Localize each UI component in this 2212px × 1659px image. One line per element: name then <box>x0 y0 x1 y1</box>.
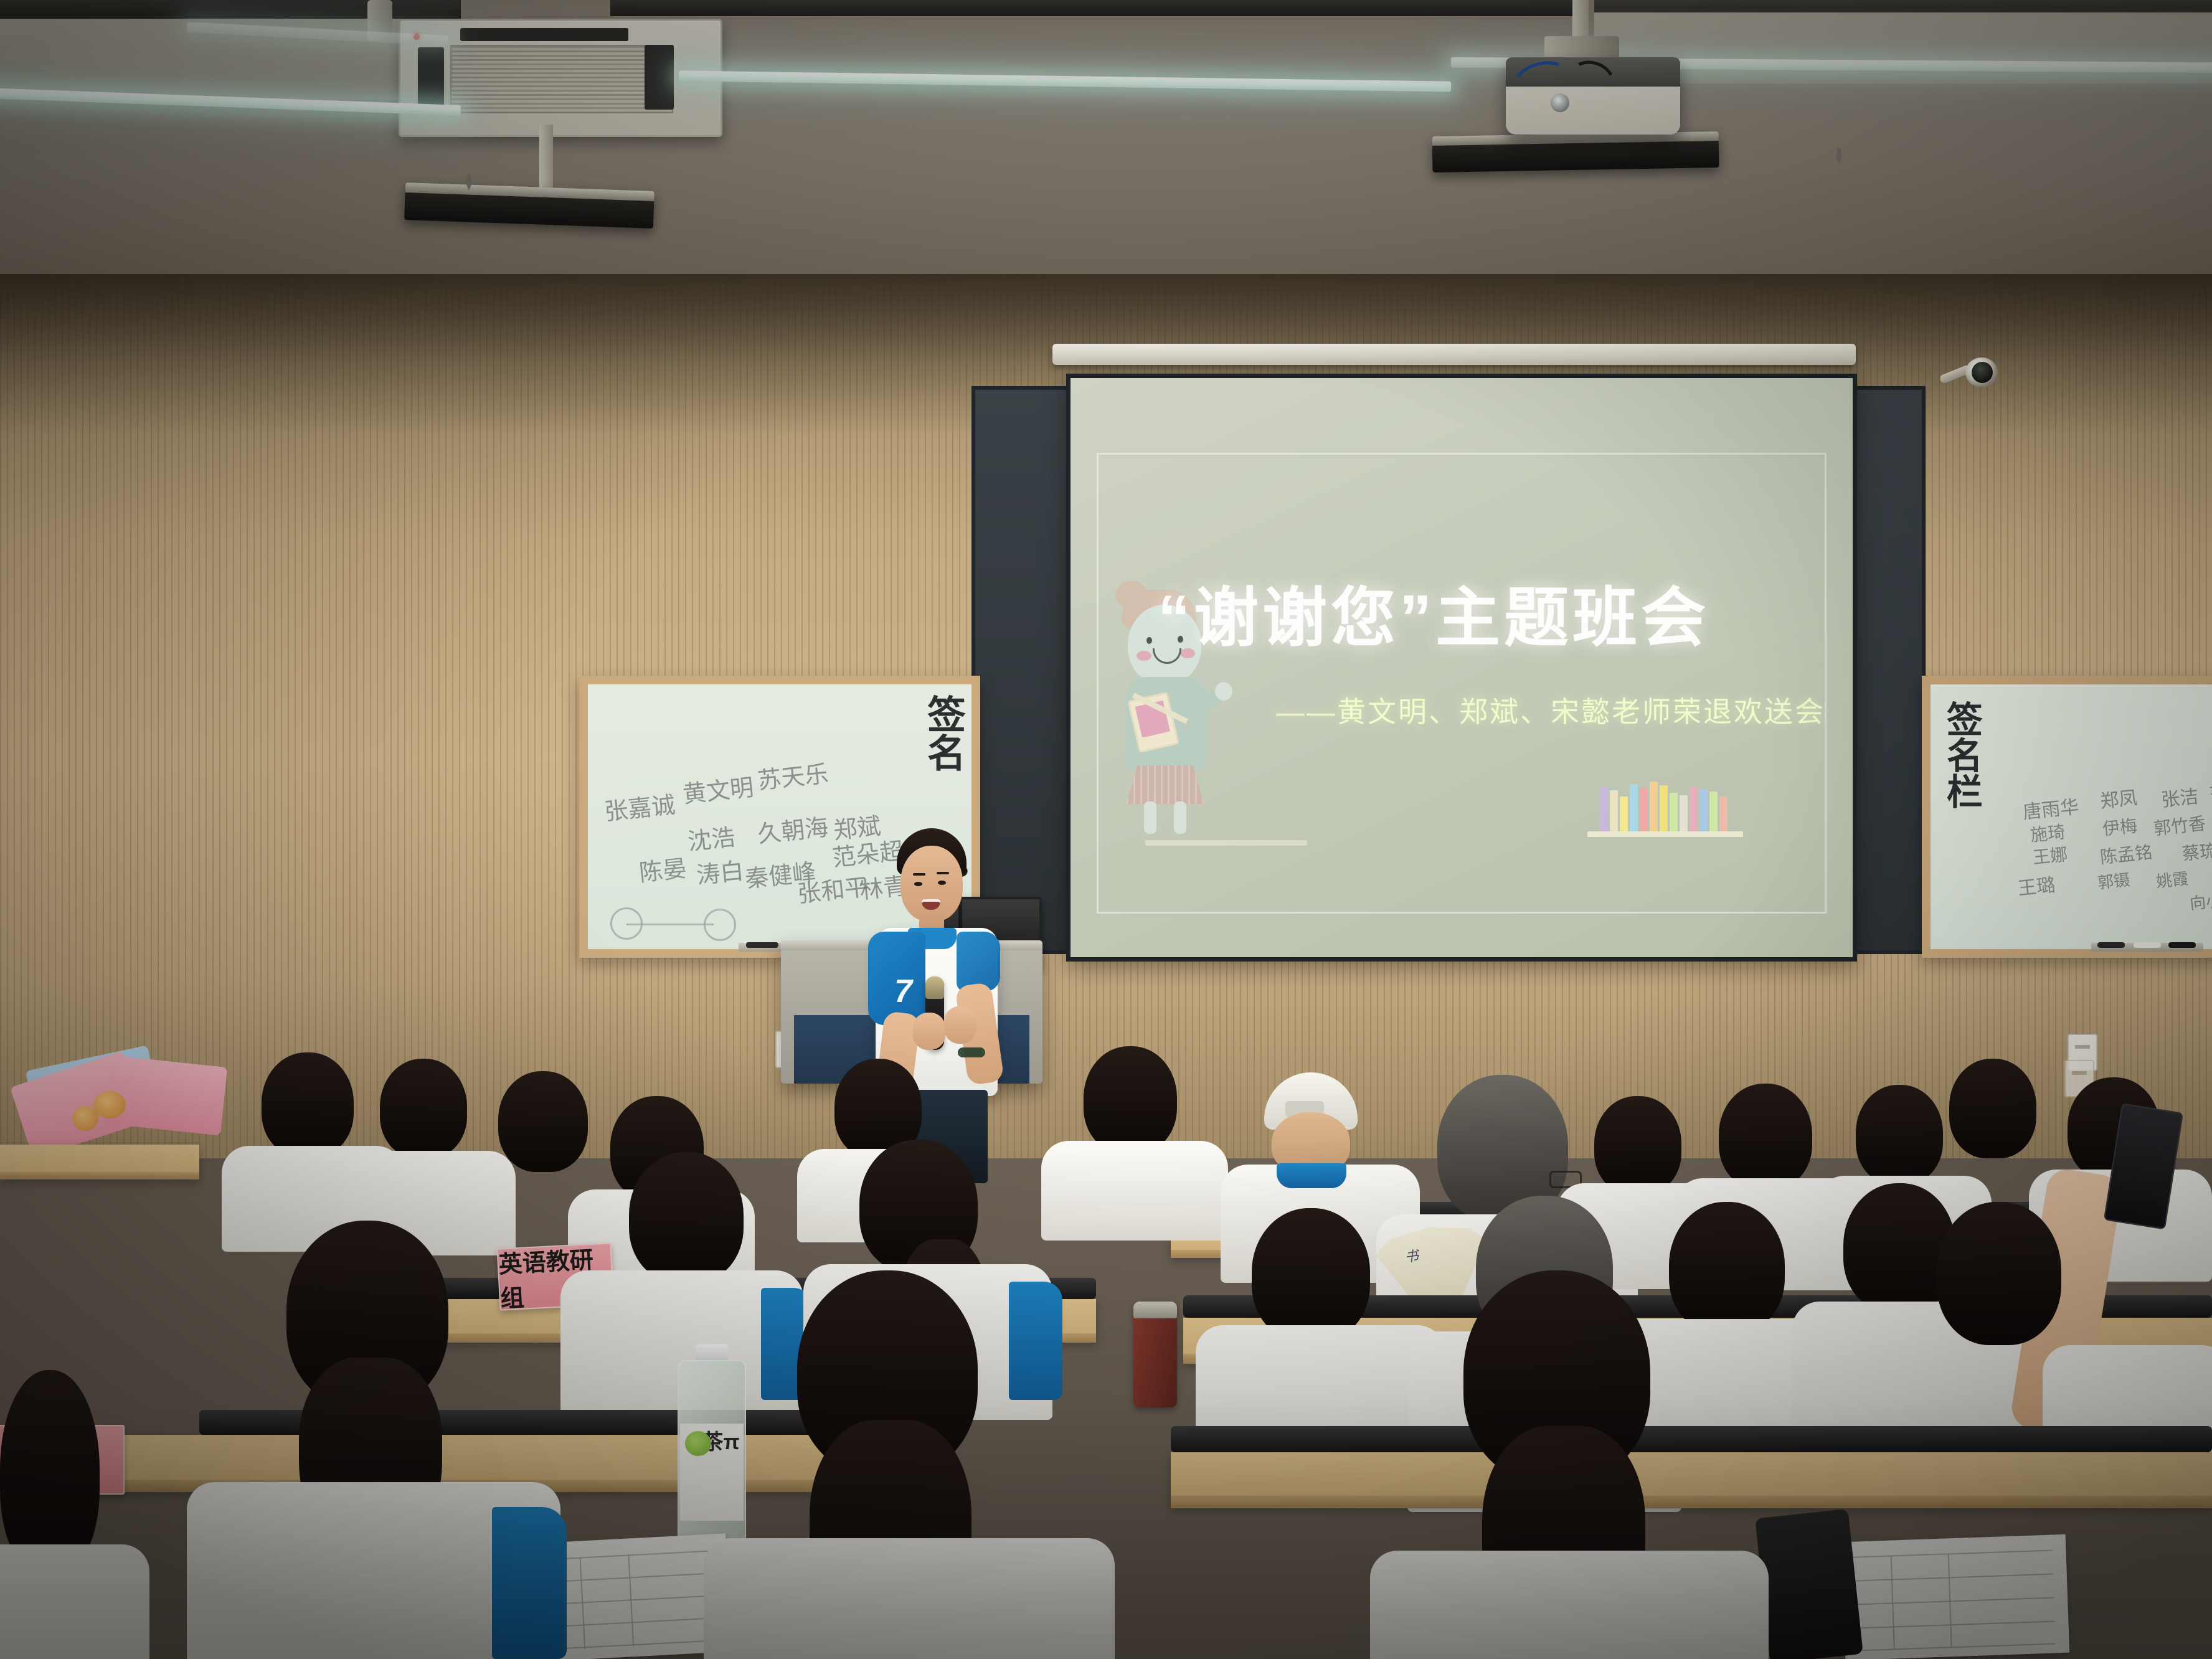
seat-back-right <box>1755 1509 1863 1659</box>
desk-row-left-back <box>0 1145 199 1179</box>
signature: 苏天乐 <box>755 754 829 796</box>
book-spine <box>1719 796 1728 831</box>
ceiling-beam-right <box>1594 0 2212 12</box>
projection-screen: “谢谢您”主题班会 ——黄文明、郑斌、宋懿老师荣退欢送会 <box>1066 374 1857 962</box>
signature: 郭竹香 <box>2152 810 2207 841</box>
signature: 王璐 <box>2016 869 2056 900</box>
signature: 范慧 <box>2208 777 2212 806</box>
signature: 黄文明 <box>681 768 755 810</box>
ac-vent-right <box>645 45 674 110</box>
whiteboard-left-heading: 签名 <box>922 694 963 772</box>
presenter-eye-right <box>938 881 946 885</box>
signature: 蔡琉 <box>2181 837 2212 866</box>
signature: 涛白 <box>694 851 745 891</box>
book-spine <box>1690 787 1698 831</box>
cartoon-eye-left <box>1146 637 1152 644</box>
audience-head <box>1084 1046 1177 1153</box>
presenter-brow-left <box>913 873 925 876</box>
fan-calligraphy: 书 <box>1403 1245 1419 1267</box>
bottle-label: 茶π <box>680 1424 743 1521</box>
slide-subtitle: ——黄文明、郑斌、宋懿老师荣退欢送会 <box>1276 689 1825 730</box>
whiteboard-doodle-line <box>626 924 714 925</box>
cartoon-leg-right <box>1174 801 1186 834</box>
camera-lens <box>1972 362 1993 383</box>
signature: 姚霞 <box>2155 866 2190 892</box>
cartoon-skirt <box>1127 765 1204 804</box>
book-spine <box>1660 785 1668 831</box>
program-sheet-right <box>1841 1534 2069 1659</box>
audience-shoulder-panel <box>1009 1282 1062 1400</box>
book-spine <box>1709 792 1718 831</box>
audience-head <box>1252 1208 1370 1341</box>
whiteboard-right: 签名栏 唐雨华 施琦 王娜 王璐 郑凤 张洁 范慧 伊梅 郭竹香 陈孟铭 蔡琉 … <box>1922 676 2212 958</box>
ceiling-speaker-bar-right <box>1432 131 1719 173</box>
book-spine <box>1699 789 1708 831</box>
microphone-grille <box>925 976 944 999</box>
paper-row-line <box>552 1572 716 1582</box>
signature: 王娜 <box>2031 841 2069 869</box>
book-spine <box>1680 795 1688 831</box>
desk-row-front-right <box>1171 1452 2212 1508</box>
paper-row-line <box>1856 1620 2055 1628</box>
tea-bottle: 茶π <box>678 1360 746 1547</box>
paper-row-line <box>1853 1550 2053 1558</box>
book-spine <box>1650 782 1658 831</box>
presenter-mouth <box>922 899 940 910</box>
camera-dome <box>1965 357 1998 387</box>
book-spine <box>1670 793 1678 831</box>
paper-row-line <box>1856 1643 2056 1651</box>
paper-row-line <box>554 1617 719 1627</box>
presenter-shirt-number: 7 <box>894 973 912 1010</box>
projector <box>1506 57 1680 135</box>
signature: 沈浩 <box>686 818 736 857</box>
audience-head <box>1949 1059 2036 1158</box>
bouquet-flower <box>72 1106 98 1131</box>
program-sheet-left <box>539 1533 732 1659</box>
audience-head <box>1719 1084 1812 1189</box>
thermos-lid <box>1133 1302 1177 1318</box>
audience-shoulders-front <box>0 1544 149 1659</box>
ac-vent-left <box>418 47 444 109</box>
desk-rail-front-left <box>199 1410 859 1435</box>
presenter-sleeve-right <box>957 932 1000 991</box>
signature: 张洁 <box>2160 781 2200 812</box>
paper-row-line <box>1854 1574 2053 1582</box>
audience-head <box>262 1052 354 1157</box>
ac-vent-top <box>460 28 628 41</box>
signature: 伊梅 <box>2101 812 2139 841</box>
projector-lens <box>1551 93 1569 112</box>
signature: 向小兰 <box>2188 886 2212 914</box>
audience-shoulders <box>1041 1141 1228 1241</box>
signature: 陈孟铭 <box>2099 839 2153 869</box>
ac-grille <box>450 45 673 113</box>
signature: 久朝海 <box>755 808 829 849</box>
cartoon-leg-left <box>1144 801 1156 834</box>
ceiling-beam-mid <box>610 0 1582 16</box>
presenter-eye-left <box>914 882 922 886</box>
cartoon-hand <box>1215 682 1232 701</box>
book-spine <box>1620 796 1628 831</box>
audience-head <box>629 1152 744 1283</box>
classroom-photo-scene: “谢谢您”主题班会 ——黄文明、郑斌、宋懿老师荣退欢送会 <box>0 0 2212 1659</box>
audience-head <box>1594 1096 1681 1194</box>
audience-shoulders-front <box>704 1538 1115 1659</box>
slide-bookshelf-books <box>1600 782 1728 831</box>
paper-row-line <box>551 1550 716 1560</box>
desk-rail-front-right <box>1171 1426 2212 1452</box>
audience-head <box>498 1071 588 1172</box>
marker-pen <box>2097 942 2125 948</box>
presenter-hand-left <box>913 1013 945 1050</box>
cartoon-cheek-left <box>1137 651 1151 661</box>
audience-head <box>1937 1202 2061 1345</box>
audience-collar <box>1277 1163 1346 1188</box>
whiteboard-right-heading: 签名栏 <box>1942 701 1980 809</box>
signature: 郑凤 <box>2099 782 2139 813</box>
desk-edge <box>0 1172 199 1179</box>
signature: 郭镊 <box>2096 867 2131 893</box>
audience-head <box>1669 1202 1785 1334</box>
presenter-face <box>900 846 963 922</box>
presenter-hand-right <box>944 1006 976 1044</box>
screen-roller <box>1052 344 1856 365</box>
presenter-bracelet <box>958 1047 985 1057</box>
thermos-bottle <box>1133 1302 1177 1407</box>
desk-edge <box>1171 1496 2212 1508</box>
paper-row-line <box>555 1640 720 1650</box>
book-spine <box>1640 788 1648 831</box>
marker-pen <box>746 942 778 948</box>
slide-title: “谢谢您”主题班会 <box>1158 565 1709 659</box>
audience-shoulders-front <box>1370 1551 1769 1659</box>
signature: 陈晏 <box>637 849 688 888</box>
security-camera <box>1943 356 2011 394</box>
presenter-brow-right <box>937 872 949 874</box>
paper-row-line <box>1855 1597 2054 1605</box>
book-spine <box>1610 790 1618 831</box>
paper-row-line <box>553 1595 717 1605</box>
book-spine <box>1630 784 1638 831</box>
slide-desk-line <box>1145 840 1307 846</box>
slide-bookshelf-board <box>1587 831 1743 837</box>
signature: 张嘉诚 <box>602 785 676 827</box>
bouquet-flower <box>93 1091 126 1118</box>
audience-head <box>1856 1085 1943 1184</box>
marker-pen <box>2134 942 2161 948</box>
audience-shoulder-panel <box>492 1507 567 1659</box>
book-spine <box>1600 787 1608 831</box>
audience-head <box>380 1059 467 1158</box>
slide-content: “谢谢您”主题班会 ——黄文明、郑斌、宋懿老师荣退欢送会 <box>1071 378 1853 957</box>
marker-pen <box>2168 942 2196 948</box>
